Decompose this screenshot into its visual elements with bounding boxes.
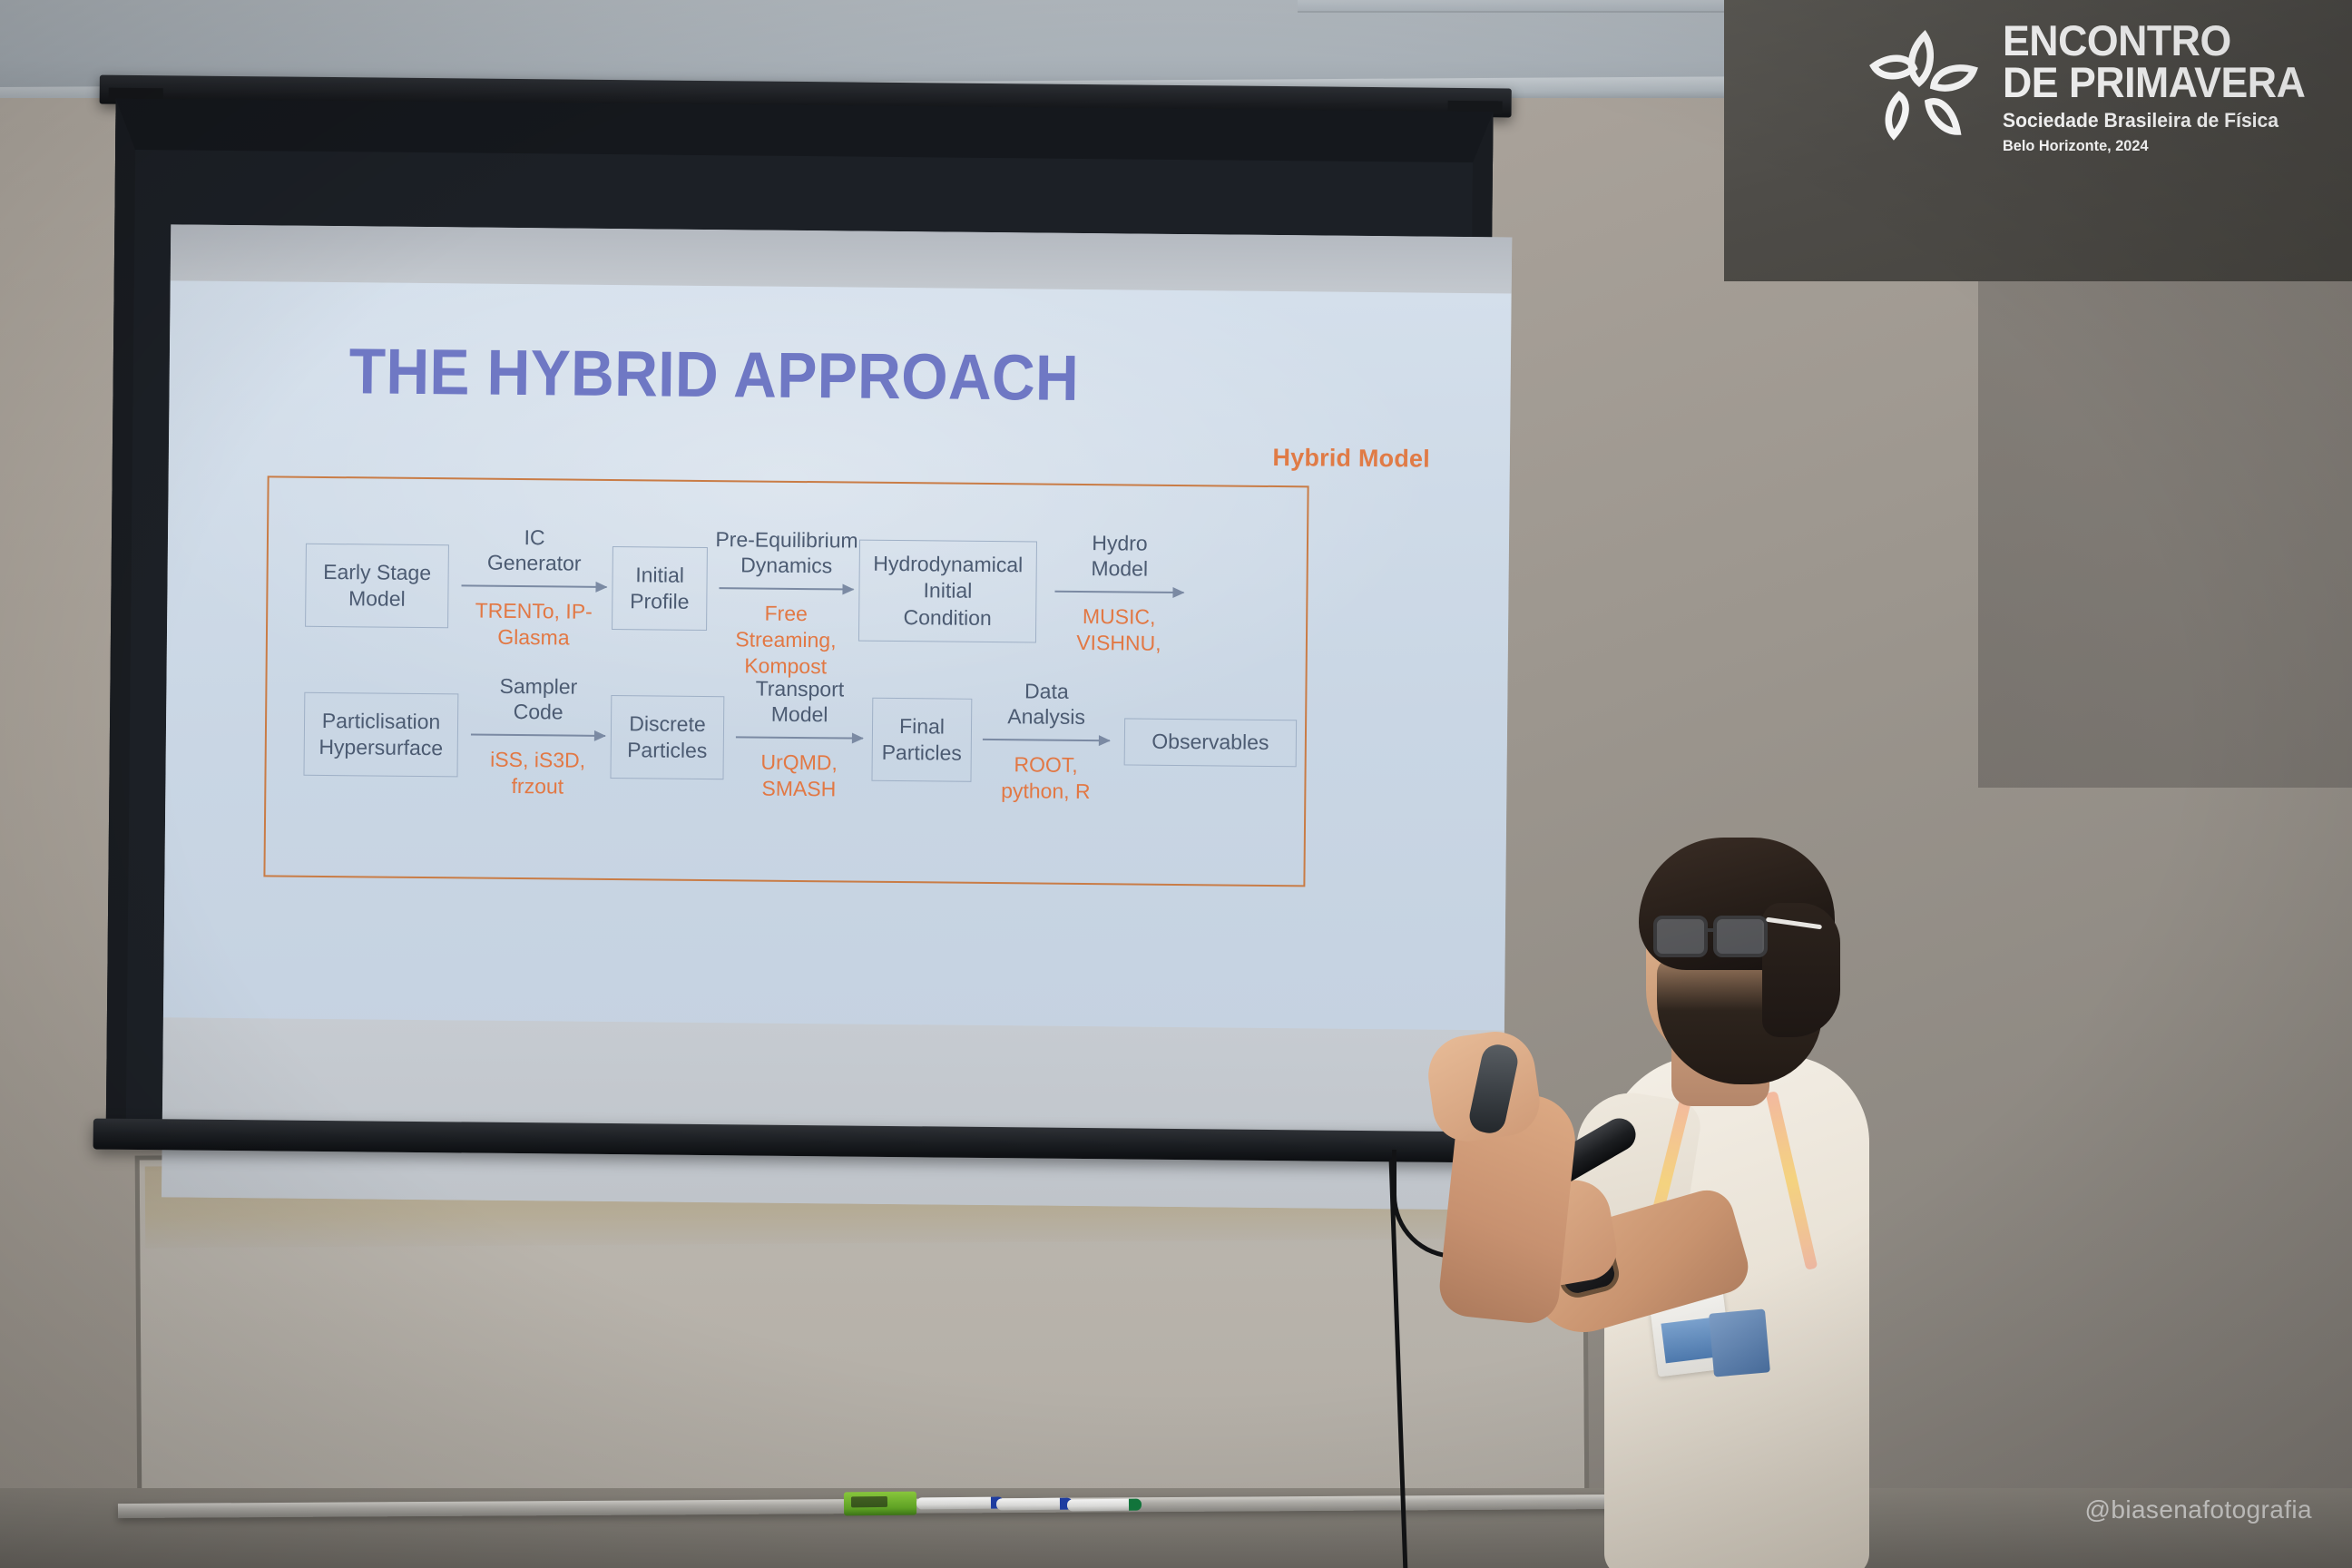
arrow-head-icon <box>595 582 607 593</box>
edge-label-bottom: FreeStreaming,Kompost <box>735 600 837 679</box>
event-location-year: Belo Horizonte, 2024 <box>2003 137 2308 155</box>
arrow-head-icon <box>1172 587 1184 598</box>
edge-hydro-model: HydroModel MUSIC,VISHNU, <box>1054 591 1183 592</box>
five-petal-flower-icon <box>1867 26 1983 150</box>
node-label: Early StageModel <box>323 559 431 613</box>
edge-label-top: SamplerCode <box>499 672 577 725</box>
arrow-head-icon <box>594 730 606 741</box>
screen-surface: THE HYBRID APPROACH Hybrid Model Early S… <box>162 224 1512 1210</box>
node-hydrodynamical-initial-condition: HydrodynamicalInitialCondition <box>858 540 1037 643</box>
edge-label-bottom: UrQMD,SMASH <box>760 750 838 802</box>
eyeglasses-icon <box>1653 916 1708 957</box>
arrow-head-icon <box>852 733 864 744</box>
node-final-particles: FinalParticles <box>871 698 972 782</box>
photographer-watermark: @biasenafotografia <box>2085 1495 2312 1524</box>
node-initial-profile: InitialProfile <box>612 546 708 631</box>
whiteboard-marker[interactable] <box>916 1497 1002 1510</box>
node-label: DiscreteParticles <box>627 710 708 765</box>
projection-screen: THE HYBRID APPROACH Hybrid Model Early S… <box>89 75 1512 1196</box>
event-organizer: Sociedade Brasileira de Física <box>2003 109 2308 132</box>
presenter <box>1479 821 1987 1568</box>
edge-data-analysis: DataAnalysis ROOT,python, R <box>983 739 1110 740</box>
edge-label-bottom: MUSIC,VISHNU, <box>1076 603 1161 656</box>
screen-frame: THE HYBRID APPROACH Hybrid Model Early S… <box>106 99 1494 1138</box>
node-label: FinalParticles <box>882 712 963 767</box>
node-particlisation-hypersurface: ParticlisationHypersurface <box>303 692 458 778</box>
node-label: ParticlisationHypersurface <box>318 707 443 761</box>
node-label: Observables <box>1151 729 1269 757</box>
tshirt-graphic <box>1709 1308 1770 1377</box>
lecture-room: ∫ dΦ ≈ THE HYBRID APPROACH Hybrid Model <box>0 0 2352 1568</box>
arrow-head-icon <box>842 583 854 594</box>
edge-label-top: TransportModel <box>755 675 844 728</box>
edge-label-bottom: TRENTo, IP-Glasma <box>475 598 593 652</box>
edge-label-bottom: iSS, iS3D,frzout <box>490 747 585 800</box>
edge-label-top: Pre-EquilibriumDynamics <box>715 526 858 580</box>
node-discrete-particles: DiscreteParticles <box>610 695 724 779</box>
node-observables: Observables <box>1124 718 1297 767</box>
edge-label-top: DataAnalysis <box>1007 678 1085 730</box>
projector-letterbox-bottom <box>162 1015 1504 1210</box>
event-name-line2: DE PRIMAVERA <box>2003 62 2305 103</box>
arrow-head-icon <box>1099 735 1111 746</box>
edge-label-top: ICGenerator <box>487 524 582 576</box>
eyeglasses-bridge <box>1708 928 1717 932</box>
node-label: HydrodynamicalInitialCondition <box>873 551 1024 632</box>
event-logo-text: ENCONTRO DE PRIMAVERA Sociedade Brasilei… <box>2003 20 2321 155</box>
slide-subtitle: Hybrid Model <box>1272 444 1430 474</box>
edge-label-bottom: ROOT,python, R <box>1001 751 1091 804</box>
edge-transport-model: TransportModel UrQMD,SMASH <box>736 736 863 737</box>
edge-label-top: HydroModel <box>1091 530 1148 583</box>
whiteboard-marker[interactable] <box>996 1498 1071 1511</box>
whiteboard-eraser[interactable] <box>844 1492 916 1516</box>
event-name-line1: ENCONTRO <box>2003 20 2305 62</box>
event-logo: ENCONTRO DE PRIMAVERA Sociedade Brasilei… <box>1867 20 2321 155</box>
whiteboard-marker[interactable] <box>1067 1499 1140 1512</box>
node-early-stage-model: Early StageModel <box>305 544 449 629</box>
slide-title: THE HYBRID APPROACH <box>348 335 1079 416</box>
projected-slide: THE HYBRID APPROACH Hybrid Model Early S… <box>163 280 1512 1030</box>
eyeglasses-icon <box>1713 916 1768 957</box>
node-label: InitialProfile <box>630 562 690 615</box>
